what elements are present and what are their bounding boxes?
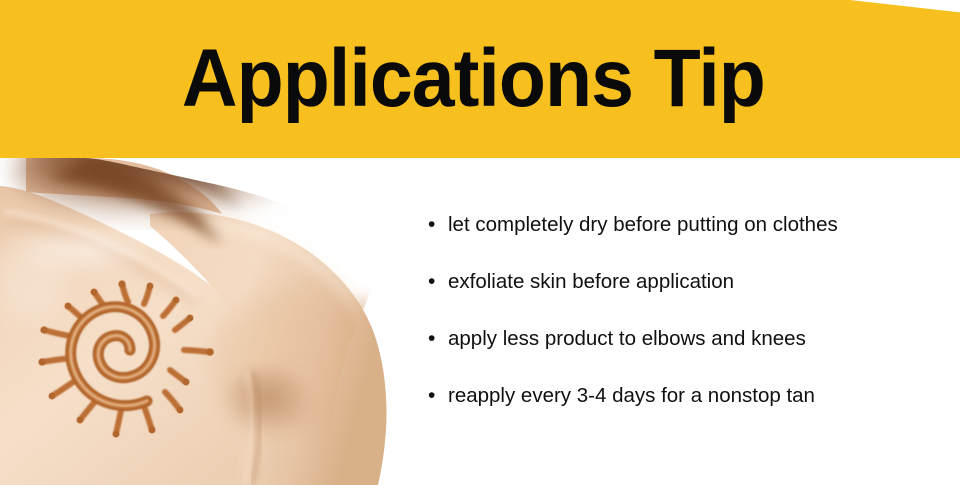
bullet-icon: • [428, 212, 448, 238]
bullet-icon: • [428, 383, 448, 409]
list-item: • apply less product to elbows and knees [428, 326, 948, 383]
bullet-icon: • [428, 269, 448, 295]
list-item-label: apply less product to elbows and knees [448, 326, 806, 352]
tanning-photo [0, 158, 400, 485]
tanning-photo-illustration [0, 158, 400, 485]
list-item: • exfoliate skin before application [428, 269, 948, 326]
page-title: Applications Tip [29, 0, 931, 158]
list-item-label: exfoliate skin before application [448, 269, 734, 295]
applications-tip-banner: Applications Tip [0, 0, 960, 485]
list-item: • reapply every 3-4 days for a nonstop t… [428, 383, 948, 440]
tips-list: • let completely dry before putting on c… [428, 212, 948, 440]
list-item: • let completely dry before putting on c… [428, 212, 948, 269]
bullet-icon: • [428, 326, 448, 352]
list-item-label: reapply every 3-4 days for a nonstop tan [448, 383, 815, 409]
header-banner: Applications Tip [0, 0, 960, 158]
list-item-label: let completely dry before putting on clo… [448, 212, 838, 238]
